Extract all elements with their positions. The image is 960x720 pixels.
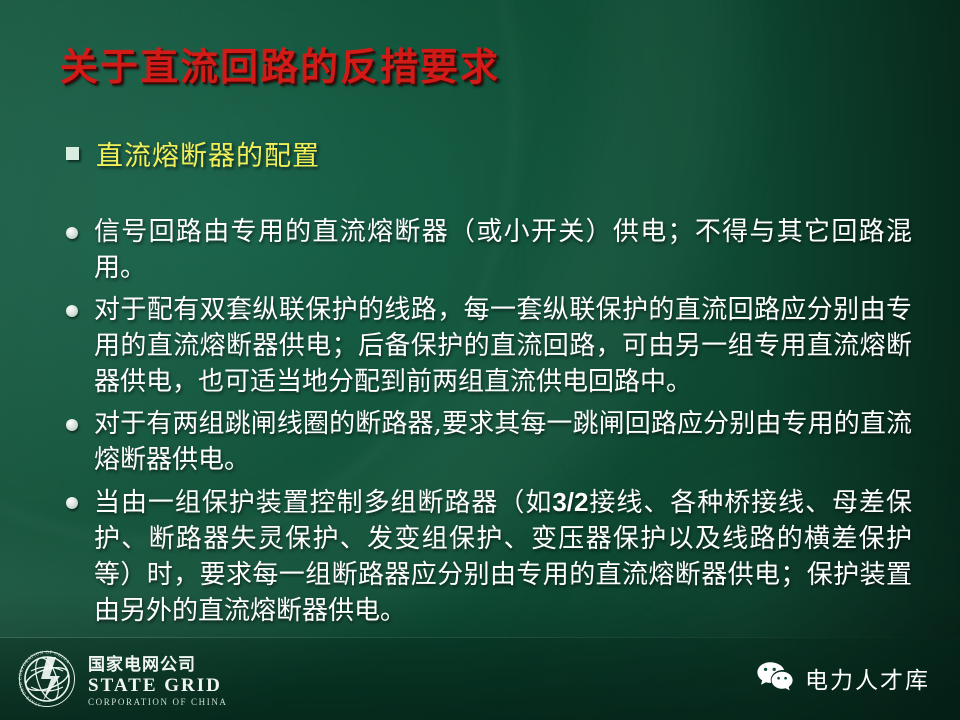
subtitle-row: 直流熔断器的配置 — [66, 134, 320, 173]
list-item: 当由一组保护装置控制多组断路器（如3/2接线、各种桥接线、母差保护、断路器失灵保… — [66, 484, 912, 629]
subtitle-text: 直流熔断器的配置 — [96, 134, 320, 173]
state-grid-wordmark: 国家电网公司 STATE GRID CORPORATION OF CHINA — [88, 656, 228, 707]
state-grid-name-en-sub: CORPORATION OF CHINA — [88, 698, 228, 707]
bullet-text: 当由一组保护装置控制多组断路器（如3/2接线、各种桥接线、母差保护、断路器失灵保… — [94, 484, 912, 629]
wechat-icon — [756, 660, 794, 696]
round-bullet-icon — [66, 305, 78, 317]
bullet-list: 信号回路由专用的直流熔断器（或小开关）供电；不得与其它回路混用。 对于配有双套纵… — [66, 214, 912, 635]
page-title: 关于直流回路的反措要求 — [60, 36, 500, 91]
list-item: 信号回路由专用的直流熔断器（或小开关）供电；不得与其它回路混用。 — [66, 214, 912, 286]
square-bullet-icon — [66, 147, 79, 160]
round-bullet-icon — [66, 497, 78, 509]
watermark-label: 电力人才库 — [805, 661, 930, 695]
round-bullet-icon — [66, 419, 78, 431]
state-grid-name-en: STATE GRID — [88, 676, 228, 695]
round-bullet-icon — [66, 227, 78, 239]
state-grid-globe-icon: STATE GRID CORPORATION OF CHINA — [18, 650, 76, 712]
state-grid-name-cn: 国家电网公司 — [88, 656, 228, 673]
list-item: 对于配有双套纵联保护的线路，每一套纵联保护的直流回路应分别由专用的直流熔断器供电… — [66, 292, 912, 400]
bullet-text: 信号回路由专用的直流熔断器（或小开关）供电；不得与其它回路混用。 — [94, 214, 912, 286]
list-item: 对于有两组跳闸线圈的断路器,要求其每一跳闸回路应分别由专用的直流熔断器供电。 — [66, 406, 912, 478]
bullet-text: 对于配有双套纵联保护的线路，每一套纵联保护的直流回路应分别由专用的直流熔断器供电… — [94, 292, 912, 400]
watermark-brand: 电力人才库 — [756, 660, 930, 696]
state-grid-brand: STATE GRID CORPORATION OF CHINA 国家电网公司 S… — [18, 650, 228, 712]
bullet-text: 对于有两组跳闸线圈的断路器,要求其每一跳闸回路应分别由专用的直流熔断器供电。 — [94, 406, 912, 478]
slide-canvas: 关于直流回路的反措要求 直流熔断器的配置 信号回路由专用的直流熔断器（或小开关）… — [0, 0, 960, 720]
